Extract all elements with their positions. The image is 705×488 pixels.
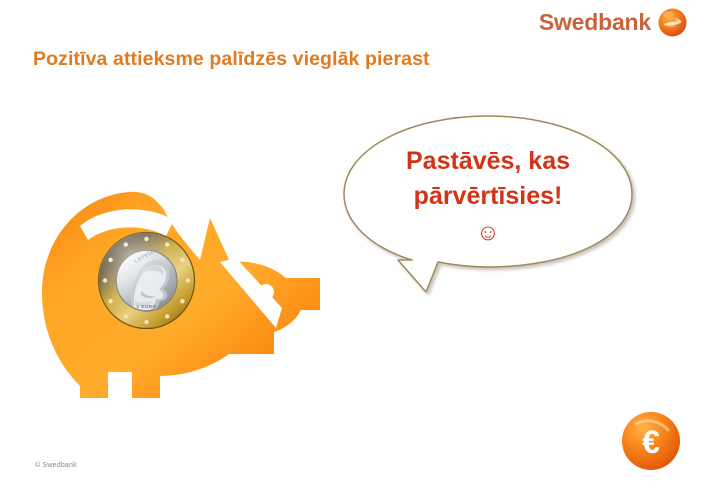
svg-text:€: € — [642, 424, 660, 460]
swedbank-oak-leaf-icon — [658, 8, 687, 37]
brand-header: Swedbank — [539, 8, 687, 37]
latvian-one-euro-coin-icon: LATVIJA 1 EURO — [97, 231, 196, 330]
footer-copyright: © Swedbank — [35, 462, 77, 469]
page-title: Pozitīva attieksme palīdzēs vieglāk pier… — [33, 48, 430, 71]
speech-bubble: Pastāvēs, kas pārvērtīsies! ☺ — [338, 112, 638, 297]
euro-symbol-icon: € — [620, 410, 682, 472]
swedbank-wordmark: Swedbank — [539, 11, 651, 34]
slide-canvas: Swedbank Pozitīva attieksme palīdzēs vie… — [0, 0, 705, 488]
